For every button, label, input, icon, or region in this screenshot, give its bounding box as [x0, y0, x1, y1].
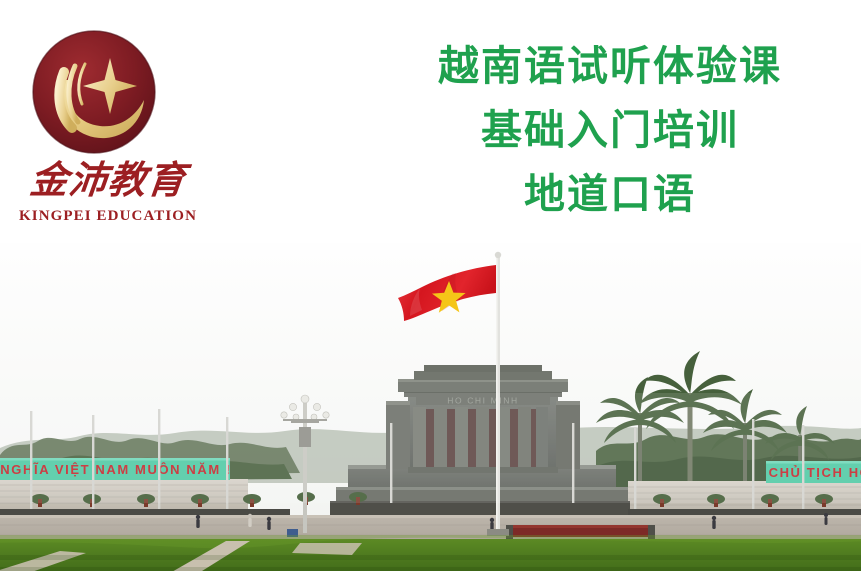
- headline-block: 越南语试听体验课 基础入门培训 地道口语: [395, 34, 825, 229]
- logo-wordmark-chinese: 金沛教育: [5, 156, 210, 204]
- lawn: [0, 535, 861, 571]
- ho-chi-minh-mausoleum-photo: HO CHI MINH: [0, 243, 861, 571]
- brand-logo-block: 金沛教育 KINGPEI EDUCATION: [8, 28, 208, 233]
- headline-line-2: 基础入门培训: [395, 98, 825, 162]
- kingpei-crescent-star-logo-icon: [30, 28, 158, 156]
- headline-line-1: 越南语试听体验课: [395, 34, 825, 98]
- poster-header: 金沛教育 KINGPEI EDUCATION 越南语试听体验课 基础入门培训 地…: [0, 0, 861, 243]
- headline-line-3: 地道口语: [395, 162, 825, 226]
- poster-root: 金沛教育 KINGPEI EDUCATION 越南语试听体验课 基础入门培训 地…: [0, 0, 861, 571]
- logo-wordmark-english: KINGPEI EDUCATION: [8, 208, 208, 225]
